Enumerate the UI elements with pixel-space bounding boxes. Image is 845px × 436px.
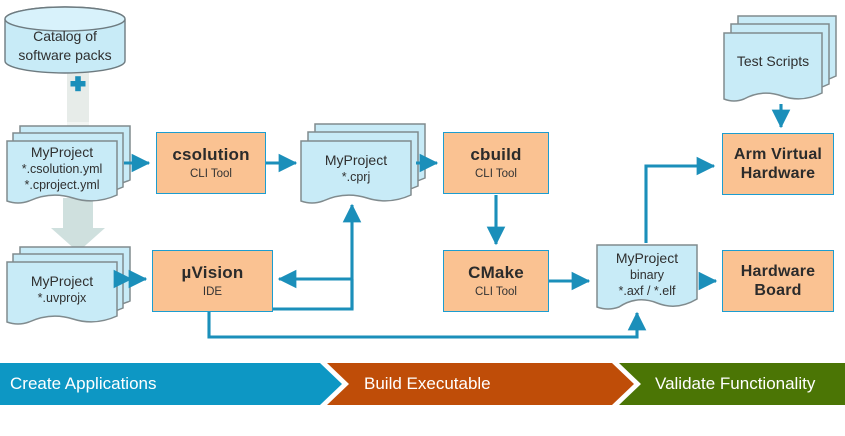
wire-binary-to-avh — [646, 166, 714, 243]
stage-label-create[interactable]: Create Applications — [10, 363, 156, 405]
diagram-canvas: Catalog of software packs MyProject *.cs… — [0, 0, 845, 436]
stage-label-build[interactable]: Build Executable — [364, 363, 491, 405]
wire-cprjfeedback — [273, 279, 352, 309]
stage-label-validate[interactable]: Validate Functionality — [655, 363, 815, 405]
wire-uvision-to-binary — [209, 312, 637, 337]
